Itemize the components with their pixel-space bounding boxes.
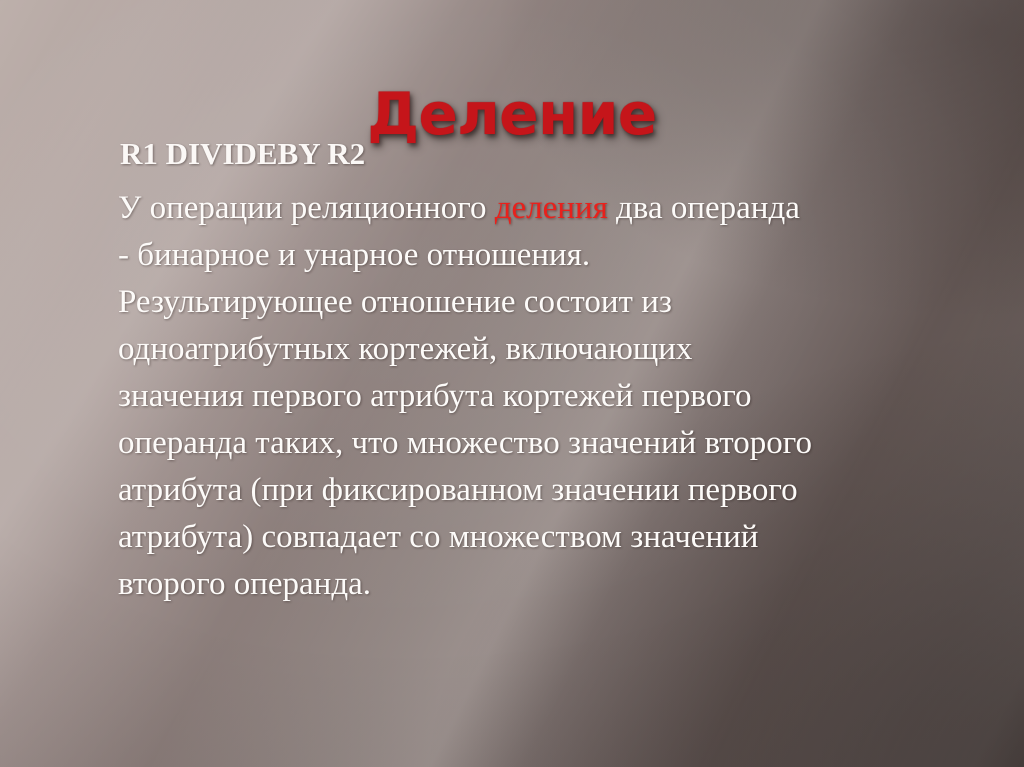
line-text-tail: два операнда (608, 190, 800, 226)
operation-syntax-heading: R1 DIVIDEBY R2 (120, 138, 998, 169)
paragraph-line: одноатрибутных кортежей, включающих (118, 326, 998, 373)
line-text: У операции реляционного (118, 190, 495, 226)
paragraph-line: Результирующее отношение состоит из (118, 279, 998, 326)
paragraph-line: У операции реляционного деления два опер… (118, 185, 998, 232)
slide-body: R1 DIVIDEBY R2 У операции реляционного д… (118, 138, 998, 608)
slide-content: Деление R1 DIVIDEBY R2 У операции реляци… (0, 0, 1024, 767)
paragraph-line: операнда таких, что множество значений в… (118, 420, 998, 467)
paragraph-line: атрибута) совпадает со множеством значен… (118, 514, 998, 561)
paragraph-line: значения первого атрибута кортежей перво… (118, 373, 998, 420)
paragraph-line: атрибута (при фиксированном значении пер… (118, 467, 998, 514)
paragraph-line: - бинарное и унарное отношения. (118, 232, 998, 279)
presentation-slide: Деление R1 DIVIDEBY R2 У операции реляци… (0, 0, 1024, 767)
accent-word: деления (495, 190, 608, 226)
paragraph-line: второго операнда. (118, 561, 998, 608)
definition-paragraph: У операции реляционного деления два опер… (118, 185, 998, 608)
